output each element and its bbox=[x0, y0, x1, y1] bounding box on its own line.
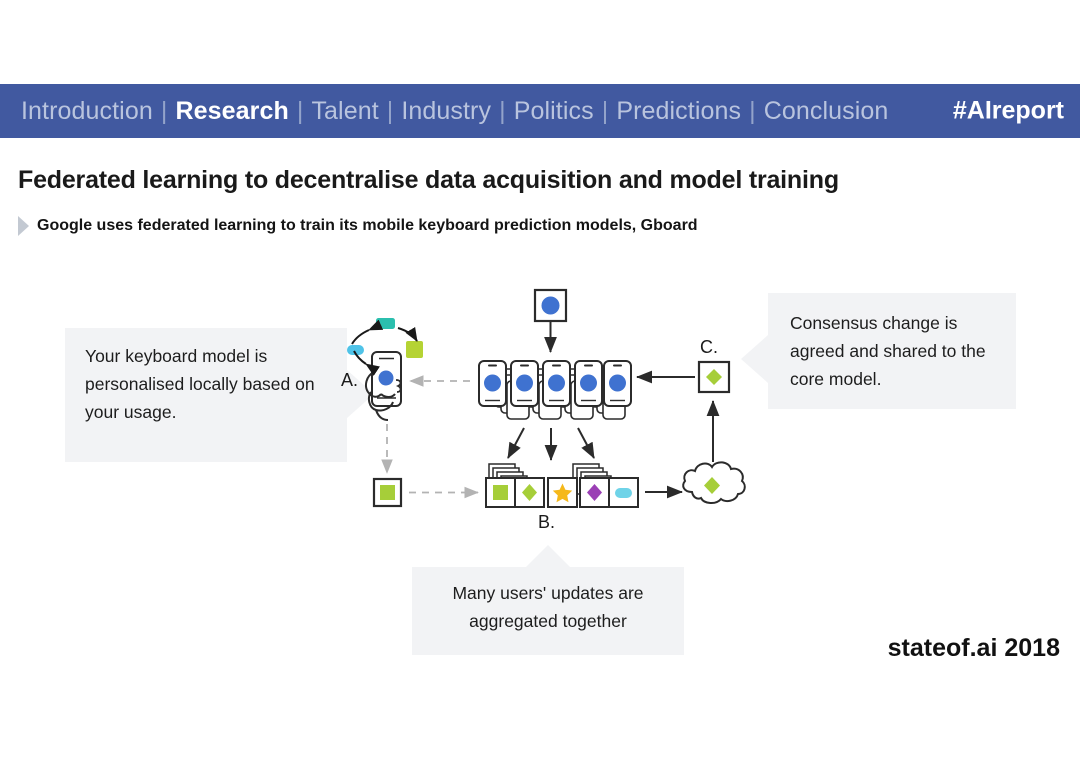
nav-item-politics[interactable]: Politics bbox=[513, 97, 595, 126]
diagram-label-b: B. bbox=[538, 512, 555, 533]
page-subtitle: Google uses federated learning to train … bbox=[37, 217, 698, 235]
subtitle-row: Google uses federated learning to train … bbox=[18, 216, 698, 236]
nav-separator: | bbox=[595, 97, 616, 126]
local-update-square bbox=[374, 479, 401, 506]
callout-right-pointer-icon bbox=[741, 335, 768, 383]
triangle-right-icon bbox=[18, 216, 29, 236]
cloud-aggregation bbox=[683, 462, 745, 503]
callout-bottom-pointer-icon bbox=[526, 545, 570, 567]
callout-bottom-text: Many users' updates are aggregated toget… bbox=[452, 583, 643, 631]
user-phones-stack bbox=[479, 361, 631, 419]
callout-right-text: Consensus change is agreed and shared to… bbox=[790, 313, 986, 389]
page-title: Federated learning to decentralise data … bbox=[18, 166, 839, 195]
nav-item-talent[interactable]: Talent bbox=[310, 97, 379, 126]
footer-brand: stateof.ai 2018 bbox=[888, 634, 1060, 663]
callout-left: Your keyboard model is personalised loca… bbox=[65, 328, 347, 462]
nav-items: Introduction|Research|Talent|Industry|Po… bbox=[20, 97, 889, 126]
personalisation-cycle bbox=[347, 318, 423, 364]
nav-separator: | bbox=[492, 97, 513, 126]
nav-item-industry[interactable]: Industry bbox=[400, 97, 492, 126]
top-navigation-bar: Introduction|Research|Talent|Industry|Po… bbox=[0, 84, 1080, 138]
nav-item-research[interactable]: Research bbox=[174, 97, 289, 126]
arrows-phones-to-cards bbox=[508, 428, 594, 460]
nav-item-introduction[interactable]: Introduction bbox=[20, 97, 154, 126]
nav-separator: | bbox=[380, 97, 401, 126]
tile-cyan bbox=[347, 345, 364, 355]
diagram-label-a: A. bbox=[341, 370, 358, 391]
callout-right: Consensus change is agreed and shared to… bbox=[768, 293, 1016, 409]
nav-separator: | bbox=[290, 97, 311, 126]
nav-separator: | bbox=[742, 97, 763, 126]
nav-separator: | bbox=[154, 97, 175, 126]
nav-item-conclusion[interactable]: Conclusion bbox=[763, 97, 890, 126]
footer-year: 2018 bbox=[1004, 634, 1060, 662]
core-model-square bbox=[535, 290, 566, 321]
callout-bottom: Many users' updates are aggregated toget… bbox=[412, 567, 684, 655]
diagram-label-c: C. bbox=[700, 337, 718, 358]
nav-item-predictions[interactable]: Predictions bbox=[615, 97, 742, 126]
tile-teal bbox=[376, 318, 395, 329]
report-hashtag: #AIreport bbox=[953, 97, 1064, 126]
callout-left-text: Your keyboard model is personalised loca… bbox=[85, 346, 315, 422]
footer-brand-name: stateof.ai bbox=[888, 634, 998, 662]
consensus-change-square bbox=[699, 362, 729, 392]
aggregated-update-cards bbox=[486, 464, 638, 507]
tile-green bbox=[406, 341, 423, 358]
